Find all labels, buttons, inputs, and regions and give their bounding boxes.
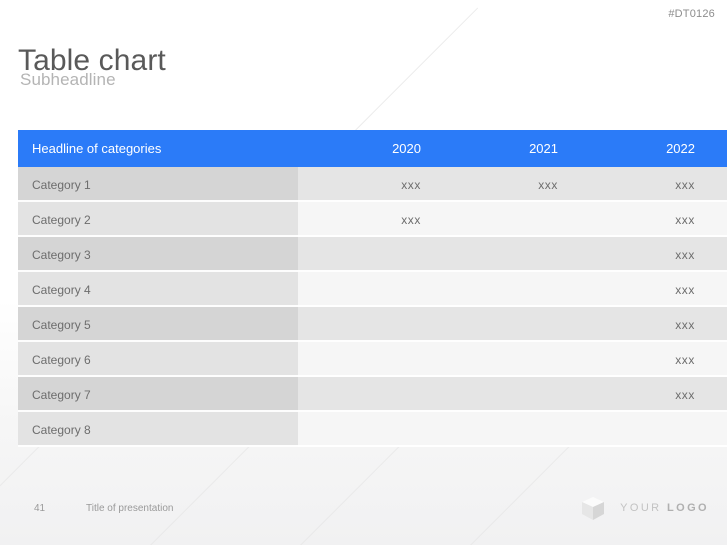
- table-cell-value: [435, 272, 572, 307]
- cube-icon: [578, 493, 608, 523]
- table-cell-value: xxx: [435, 167, 572, 202]
- table-row[interactable]: Category 5xxxxxx: [18, 307, 727, 342]
- table-cell-category: Category 5: [18, 307, 298, 342]
- logo-block: YOUR LOGO: [578, 493, 709, 523]
- footer-presentation-title: Title of presentation: [86, 503, 173, 514]
- table-cell-value: xxx: [572, 377, 709, 412]
- table-cell-value: xxx: [572, 202, 709, 237]
- data-table: Headline of categories 2020 2021 2022 20…: [18, 130, 727, 447]
- table-cell-value: [572, 412, 709, 447]
- column-header-2023[interactable]: 2023: [709, 130, 727, 167]
- table-cell-value: [435, 377, 572, 412]
- table-cell-category: Category 4: [18, 272, 298, 307]
- table-row[interactable]: Category 7xxxxxx: [18, 377, 727, 412]
- table-cell-value: [435, 342, 572, 377]
- table-cell-value: [298, 377, 435, 412]
- table-cell-value: [298, 237, 435, 272]
- table-cell-category: Category 6: [18, 342, 298, 377]
- table-cell-value: xxx: [572, 167, 709, 202]
- logo-word-your: YOUR: [620, 502, 661, 514]
- table-row[interactable]: Category 2xxxxxxxxx: [18, 202, 727, 237]
- table-cell-category: Category 8: [18, 412, 298, 447]
- table-cell-value: xxx: [572, 342, 709, 377]
- logo-text: YOUR LOGO: [620, 502, 709, 514]
- table-cell-value: [298, 307, 435, 342]
- table-header: Headline of categories 2020 2021 2022 20…: [18, 130, 727, 167]
- column-header-2020[interactable]: 2020: [298, 130, 435, 167]
- table-row[interactable]: Category 4xxxxxx: [18, 272, 727, 307]
- table-cell-value: xxx: [709, 377, 727, 412]
- table-cell-value: [298, 272, 435, 307]
- table-row[interactable]: Category 8xxx: [18, 412, 727, 447]
- table-cell-category: Category 7: [18, 377, 298, 412]
- table-chart: Headline of categories 2020 2021 2022 20…: [18, 130, 709, 447]
- table-cell-value: xxx: [709, 237, 727, 272]
- page-subtitle: Subheadline: [20, 70, 116, 90]
- table-cell-value: xxx: [298, 167, 435, 202]
- table-cell-value: xxx: [709, 272, 727, 307]
- table-cell-category: Category 2: [18, 202, 298, 237]
- table-cell-value: xxx: [298, 202, 435, 237]
- table-header-row: Headline of categories 2020 2021 2022 20…: [18, 130, 727, 167]
- table-cell-value: xxx: [572, 272, 709, 307]
- table-cell-value: [298, 412, 435, 447]
- table-body: Category 1xxxxxxxxxxxxCategory 2xxxxxxxx…: [18, 167, 727, 447]
- table-cell-value: [435, 237, 572, 272]
- table-cell-value: xxx: [572, 237, 709, 272]
- table-row[interactable]: Category 6xxxxxx: [18, 342, 727, 377]
- column-header-categories[interactable]: Headline of categories: [18, 130, 298, 167]
- table-cell-value: [435, 307, 572, 342]
- table-cell-category: Category 1: [18, 167, 298, 202]
- table-cell-category: Category 3: [18, 237, 298, 272]
- table-cell-value: xxx: [709, 202, 727, 237]
- table-cell-value: xxx: [709, 412, 727, 447]
- footer-page-number: 41: [34, 503, 45, 514]
- table-cell-value: xxx: [709, 167, 727, 202]
- table-cell-value: xxx: [709, 342, 727, 377]
- column-header-2021[interactable]: 2021: [435, 130, 572, 167]
- column-header-2022[interactable]: 2022: [572, 130, 709, 167]
- table-row[interactable]: Category 1xxxxxxxxxxxx: [18, 167, 727, 202]
- slide-canvas: #DT0126 Table chart Subheadline PRESENTA…: [0, 0, 727, 545]
- logo-word-logo: LOGO: [667, 502, 709, 514]
- table-cell-value: [298, 342, 435, 377]
- table-cell-value: [435, 202, 572, 237]
- table-cell-value: [435, 412, 572, 447]
- table-cell-value: xxx: [709, 307, 727, 342]
- table-row[interactable]: Category 3xxxxxx: [18, 237, 727, 272]
- document-code: #DT0126: [668, 8, 715, 20]
- table-cell-value: xxx: [572, 307, 709, 342]
